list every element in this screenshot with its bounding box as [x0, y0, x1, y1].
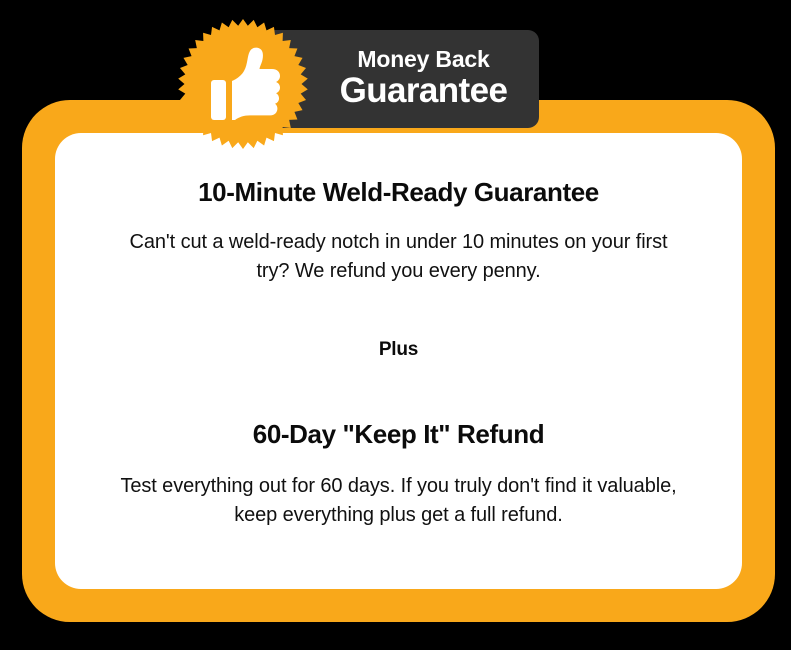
guarantee-card: 10-Minute Weld-Ready Guarantee Can't cut…	[22, 100, 775, 622]
secondary-guarantee-heading: 60-Day "Keep It" Refund	[253, 419, 544, 450]
guarantee-seal-badge	[178, 18, 308, 150]
guarantee-card-inner: 10-Minute Weld-Ready Guarantee Can't cut…	[55, 133, 742, 589]
starburst-icon	[178, 18, 308, 150]
plus-divider-label: Plus	[379, 339, 418, 361]
ribbon-line-one: Money Back	[357, 48, 489, 71]
ribbon-line-two: Guarantee	[340, 73, 508, 110]
secondary-guarantee-body: Test everything out for 60 days. If you …	[113, 472, 685, 529]
primary-guarantee-heading: 10-Minute Weld-Ready Guarantee	[198, 177, 599, 208]
primary-guarantee-body: Can't cut a weld-ready notch in under 10…	[111, 228, 686, 285]
